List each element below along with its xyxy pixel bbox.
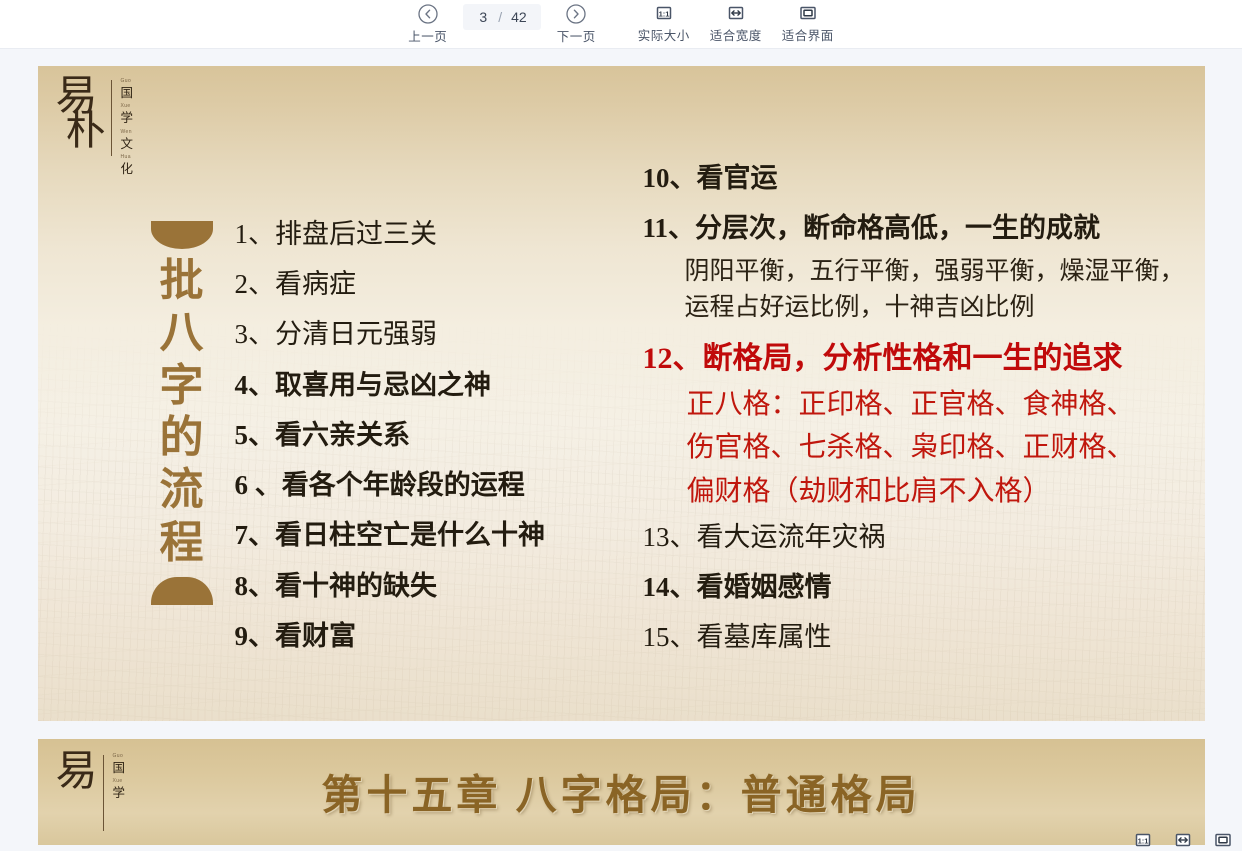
- list-item: 11、分层次，断命格高低，一生的成就: [643, 204, 1203, 254]
- actual-size-button[interactable]: 1:1 实际大小: [628, 0, 700, 44]
- list-item: 1、排盘后过三关: [235, 209, 635, 259]
- logo-pinyin-0: Guo: [121, 78, 134, 85]
- chapter-title: 第十五章 八字格局：普通格局: [38, 761, 1205, 821]
- svg-text:1:1: 1:1: [658, 9, 669, 18]
- current-page-value[interactable]: 3: [477, 9, 489, 25]
- logo-char-1: 学: [121, 111, 134, 125]
- sub-note-line: 阴阳平衡，五行平衡，强弱平衡，燥湿平衡，: [643, 254, 1203, 291]
- chevron-left-circle-icon: [417, 3, 439, 25]
- slide-page-4[interactable]: 易 Guo 国 Xue 学 第十五章 八字格局：普通格局: [38, 739, 1205, 845]
- vertical-title: 批八字的流程: [146, 221, 218, 605]
- actual-size-label: 实际大小: [638, 25, 690, 44]
- zoom-actions-group: 1:1 实际大小 适合宽度: [628, 0, 844, 44]
- logo-char-3: 化: [121, 162, 134, 176]
- floating-fit-screen-icon[interactable]: [1212, 833, 1234, 851]
- fit-screen-label: 适合界面: [782, 25, 834, 44]
- spacer: [643, 327, 1203, 335]
- logo-char-2: 文: [121, 137, 134, 151]
- list-item: 14、看婚姻感情: [643, 563, 1203, 613]
- logo-char-0: 国: [121, 86, 134, 100]
- list-item: 3、分清日元强弱: [235, 309, 635, 359]
- highlighted-line: 伤官格、七杀格、枭印格、正财格、: [643, 426, 1203, 469]
- page-indicator[interactable]: 3 / 42: [463, 4, 540, 30]
- list-item: 2、看病症: [235, 259, 635, 309]
- bracket-bottom-icon: [151, 577, 213, 605]
- right-steps-column: 10、看官运 11、分层次，断命格高低，一生的成就 阴阳平衡，五行平衡，强弱平衡…: [643, 154, 1203, 663]
- chevron-right-circle-icon: [565, 3, 587, 25]
- page-separator: /: [498, 9, 502, 25]
- vertical-title-char: 八: [160, 307, 204, 359]
- logo-pinyin-1: Xue: [121, 103, 134, 110]
- vertical-title-char: 流: [160, 464, 204, 516]
- bracket-top-icon: [151, 221, 213, 249]
- floating-fit-width-icon[interactable]: [1172, 833, 1194, 851]
- floating-zoom-controls[interactable]: 1:1: [1132, 833, 1234, 851]
- logo-mark-bottom: 朴: [66, 112, 104, 150]
- list-item: 10、看官运: [643, 154, 1203, 204]
- vertical-title-char: 程: [160, 517, 204, 569]
- brand-logo: 易 朴 Guo 国 Xue 学 Wen 文 Hua 化: [56, 78, 134, 158]
- prev-page-button[interactable]: 上一页: [398, 1, 457, 45]
- list-item: 13、看大运流年灾祸: [643, 513, 1203, 563]
- svg-text:1:1: 1:1: [1138, 836, 1149, 845]
- viewer-toolbar: 上一页 3 / 42 下一页 1:1 实际大小: [0, 0, 1242, 49]
- document-viewer[interactable]: 易 朴 Guo 国 Xue 学 Wen 文 Hua 化 批八字的流程 1、排盘后…: [0, 49, 1242, 851]
- fit-screen-icon: [797, 2, 819, 24]
- logo-pinyin-3: Hua: [121, 154, 134, 161]
- fit-width-icon: [725, 2, 747, 24]
- logo-tagline: Guo 国 Xue 学 Wen 文 Hua 化: [121, 78, 134, 179]
- total-pages-value: 42: [511, 9, 527, 25]
- vertical-title-char: 的: [160, 412, 204, 464]
- vertical-title-char: 字: [160, 360, 204, 412]
- logo-pinyin-0: Guo: [113, 753, 126, 760]
- logo-pinyin-2: Wen: [121, 129, 134, 136]
- prev-page-label: 上一页: [408, 26, 447, 45]
- highlighted-line: 正八格：正印格、正官格、食神格、: [643, 383, 1203, 426]
- fit-screen-button[interactable]: 适合界面: [772, 0, 844, 44]
- sub-note-line: 运程占好运比例，十神吉凶比例: [643, 290, 1203, 327]
- next-page-label: 下一页: [557, 26, 596, 45]
- fit-width-button[interactable]: 适合宽度: [700, 0, 772, 44]
- list-item: 9、看财富: [235, 611, 635, 661]
- list-item: 5、看六亲关系: [235, 410, 635, 460]
- highlighted-heading: 12、断格局，分析性格和一生的追求: [643, 335, 1203, 383]
- list-item: 8、看十神的缺失: [235, 561, 635, 611]
- left-steps-column: 1、排盘后过三关 2、看病症 3、分清日元强弱 4、取喜用与忌凶之神 5、看六亲…: [235, 209, 635, 661]
- list-item: 15、看墓库属性: [643, 613, 1203, 663]
- list-item: 7、看日柱空亡是什么十神: [235, 510, 635, 560]
- list-item: 4、取喜用与忌凶之神: [235, 360, 635, 410]
- list-item: 6 、看各个年龄段的运程: [235, 460, 635, 510]
- vertical-title-char: 批: [160, 255, 204, 307]
- floating-actual-size-icon[interactable]: 1:1: [1132, 833, 1154, 851]
- actual-size-icon: 1:1: [653, 2, 675, 24]
- highlighted-line: 偏财格（劫财和比肩不入格）: [643, 470, 1203, 513]
- fit-width-label: 适合宽度: [710, 25, 762, 44]
- slide-page-3[interactable]: 易 朴 Guo 国 Xue 学 Wen 文 Hua 化 批八字的流程 1、排盘后…: [38, 66, 1205, 721]
- logo-divider: [111, 80, 112, 156]
- vertical-title-text: 批八字的流程: [160, 249, 204, 577]
- next-page-button[interactable]: 下一页: [547, 1, 606, 45]
- logo-mark: 易 朴: [56, 78, 104, 150]
- page-nav-group: 上一页 3 / 42 下一页: [398, 0, 606, 45]
